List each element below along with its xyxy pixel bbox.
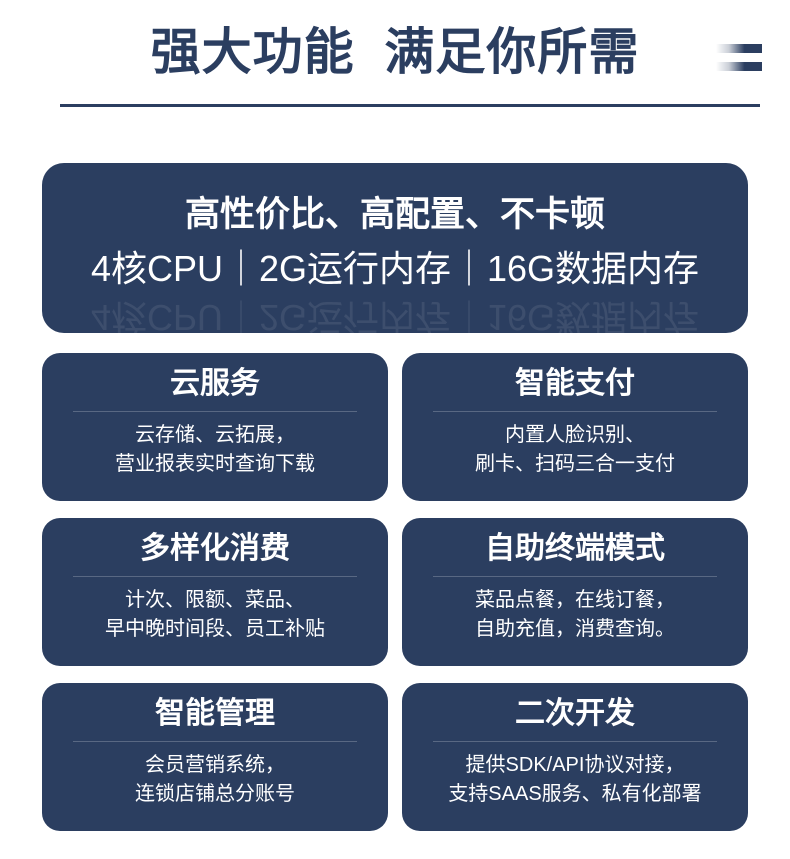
card-title: 自助终端模式: [485, 526, 665, 572]
feature-card-grid: 云服务 云存储、云拓展， 营业报表实时查询下载 智能支付 内置人脸识别、 刷卡、…: [42, 353, 748, 831]
card-divider: [73, 576, 357, 577]
card-divider: [73, 411, 357, 412]
card-title: 云服务: [170, 361, 260, 407]
page-title: 强大功能 满足你所需: [0, 22, 790, 82]
feature-card-smart-management: 智能管理 会员营销系统， 连锁店铺总分账号: [42, 683, 388, 831]
page-header: 强大功能 满足你所需: [0, 0, 790, 120]
feature-card-self-service-terminal: 自助终端模式 菜品点餐，在线订餐， 自助充值，消费查询。: [402, 518, 748, 666]
card-title: 多样化消费: [140, 526, 290, 572]
feature-highlight-page: 强大功能 满足你所需 高性价比、高配置、不卡顿 4核CPU｜2G运行内存｜16G…: [0, 0, 790, 859]
card-description: 菜品点餐，在线订餐， 自助充值，消费查询。: [475, 586, 675, 644]
feature-card-diverse-consumption: 多样化消费 计次、限额、菜品、 早中晚时间段、员工补贴: [42, 518, 388, 666]
hero-spec-reflection: 4核CPU｜2G运行内存｜16G数据内存: [42, 294, 748, 333]
card-title: 二次开发: [515, 691, 635, 737]
card-description: 提供SDK/API协议对接， 支持SAAS服务、私有化部署: [448, 751, 701, 809]
card-title: 智能管理: [155, 691, 275, 737]
header-divider: [60, 104, 760, 107]
feature-card-secondary-development: 二次开发 提供SDK/API协议对接， 支持SAAS服务、私有化部署: [402, 683, 748, 831]
card-divider: [433, 411, 717, 412]
hero-spec-panel: 高性价比、高配置、不卡顿 4核CPU｜2G运行内存｜16G数据内存 4核CPU｜…: [42, 163, 748, 333]
feature-card-smart-payment: 智能支付 内置人脸识别、 刷卡、扫码三合一支付: [402, 353, 748, 501]
hero-headline: 高性价比、高配置、不卡顿: [42, 193, 748, 237]
feature-card-cloud-service: 云服务 云存储、云拓展， 营业报表实时查询下载: [42, 353, 388, 501]
card-description: 云存储、云拓展， 营业报表实时查询下载: [115, 421, 315, 479]
card-divider: [73, 741, 357, 742]
card-description: 计次、限额、菜品、 早中晚时间段、员工补贴: [105, 586, 325, 644]
card-divider: [433, 741, 717, 742]
card-title: 智能支付: [515, 361, 635, 407]
card-description: 内置人脸识别、 刷卡、扫码三合一支付: [475, 421, 675, 479]
hero-spec-line: 4核CPU｜2G运行内存｜16G数据内存: [42, 246, 748, 292]
two-bar-mark-icon: [716, 44, 762, 80]
card-divider: [433, 576, 717, 577]
card-description: 会员营销系统， 连锁店铺总分账号: [135, 751, 295, 809]
